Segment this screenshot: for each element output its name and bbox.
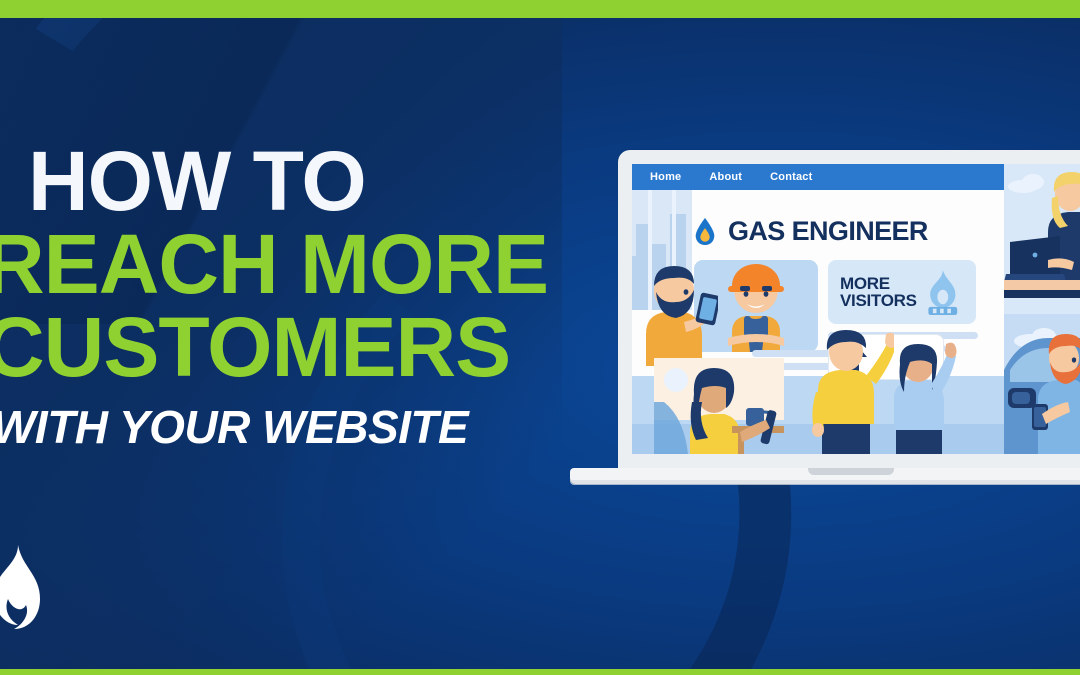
sub-headline: WITH YOUR WEBSITE: [0, 405, 600, 451]
headline-line-1: HOW TO: [0, 140, 600, 223]
headline-line-3: CUSTOMERS: [0, 306, 600, 389]
website-nav[interactable]: Home About Contact: [632, 164, 1004, 190]
gas-burner-flame-icon: [923, 269, 959, 316]
headline-line-2: REACH MORE: [0, 223, 600, 306]
desk-surface: [1004, 280, 1080, 290]
man-pointing-up: [808, 328, 894, 454]
water-drop-flame-icon: [694, 217, 716, 246]
woman-at-desk-with-mug: [654, 358, 784, 454]
more-visitors-line-1: MORE: [840, 275, 917, 292]
website-right-panel: [1004, 164, 1080, 454]
promotional-banner: HOW TO REACH MORE CUSTOMERS WITH YOUR WE…: [0, 0, 1080, 675]
more-visitors-text: MORE VISITORS: [840, 275, 917, 310]
laptop-trackpad-notch: [808, 468, 894, 475]
bottom-accent-bar: [0, 669, 1080, 675]
desk-edge: [1004, 290, 1080, 298]
more-visitors-card: MORE VISITORS: [828, 260, 976, 324]
flame-logo-icon: [0, 543, 44, 639]
bearded-man-with-phone: [640, 256, 718, 366]
laptop-mockup: Home About Contact GAS ENGINEER: [556, 150, 1080, 500]
top-accent-bar: [0, 0, 1080, 18]
brand-name: GAS ENGINEER: [728, 216, 928, 247]
more-visitors-line-2: VISITORS: [840, 292, 917, 309]
nav-item-about[interactable]: About: [709, 171, 742, 183]
woman-pointing-up: [884, 340, 958, 454]
laptop-screen: Home About Contact GAS ENGINEER: [632, 164, 1080, 454]
blonde-woman-with-laptop: [1004, 166, 1080, 296]
website-brand: GAS ENGINEER: [694, 216, 928, 247]
headline-block: HOW TO REACH MORE CUSTOMERS WITH YOUR WE…: [0, 140, 600, 451]
nav-item-contact[interactable]: Contact: [770, 171, 812, 183]
nav-item-home[interactable]: Home: [650, 171, 681, 183]
laptop-base-shadow: [570, 480, 1080, 485]
red-bearded-man-by-car: [1004, 304, 1080, 454]
